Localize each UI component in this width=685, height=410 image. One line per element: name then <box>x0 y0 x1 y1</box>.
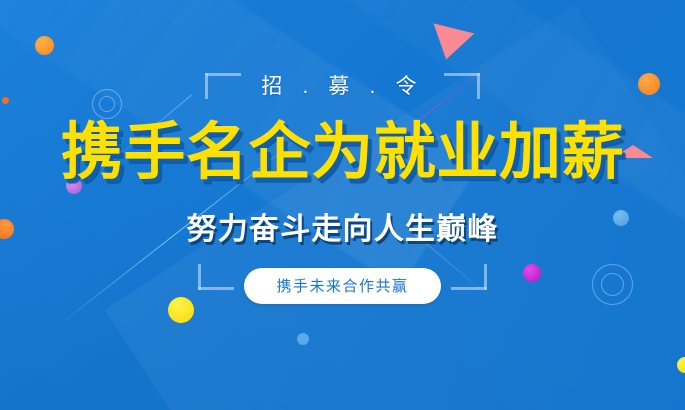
eyebrow-text: 招 . 募 . 令 <box>0 70 685 100</box>
headline-text: 携手名企为就业加薪 <box>0 120 685 185</box>
cta-button[interactable]: 携手未来合作共赢 <box>244 268 440 304</box>
banner-content: 招 . 募 . 令 携手名企为就业加薪 努力奋斗走向人生巅峰 携手未来合作共赢 <box>0 0 685 410</box>
recruitment-banner: 招 . 募 . 令 携手名企为就业加薪 努力奋斗走向人生巅峰 携手未来合作共赢 <box>0 0 685 410</box>
cta-row: 携手未来合作共赢 <box>0 268 685 304</box>
subheadline-text: 努力奋斗走向人生巅峰 <box>0 204 685 248</box>
